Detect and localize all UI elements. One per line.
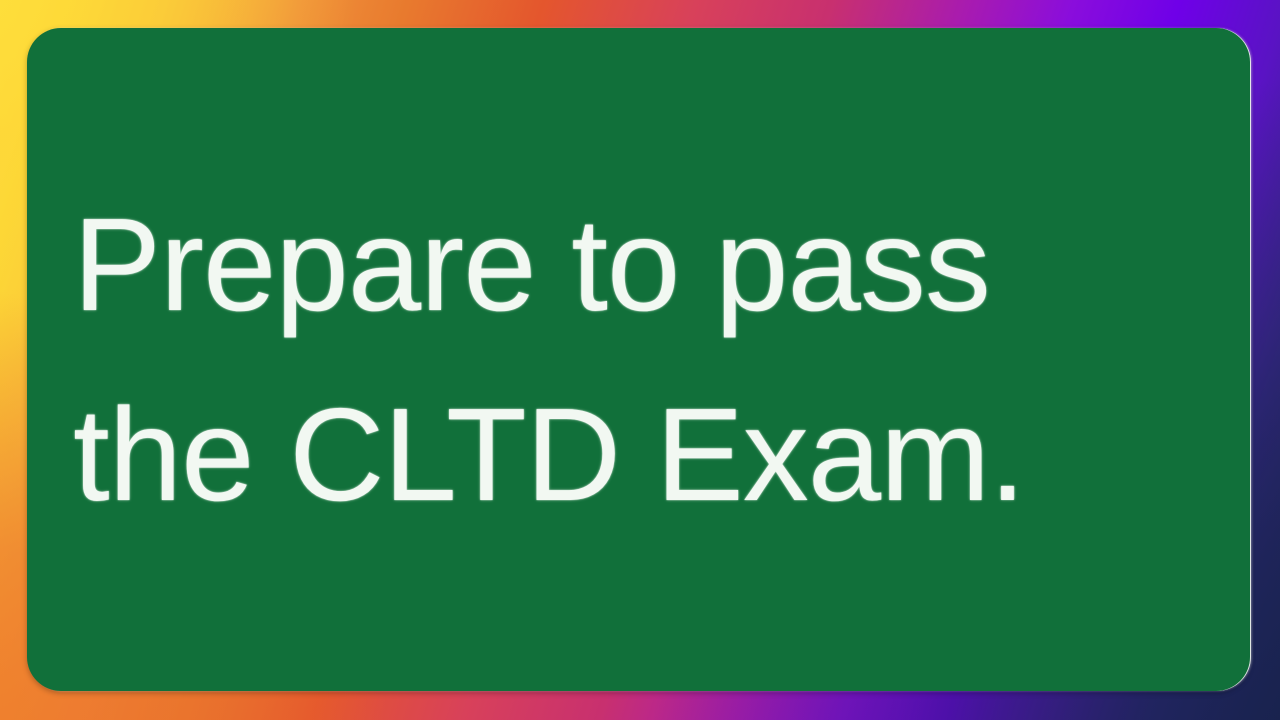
card-content: Prepare to pass the CLTD Exam. (27, 28, 1250, 691)
headline-line-1: Prepare to pass (73, 172, 990, 358)
green-content-card: Prepare to pass the CLTD Exam. (27, 28, 1250, 691)
headline-line-2: the CLTD Exam. (73, 362, 1025, 548)
slide-canvas: Prepare to pass the CLTD Exam. (0, 0, 1280, 720)
